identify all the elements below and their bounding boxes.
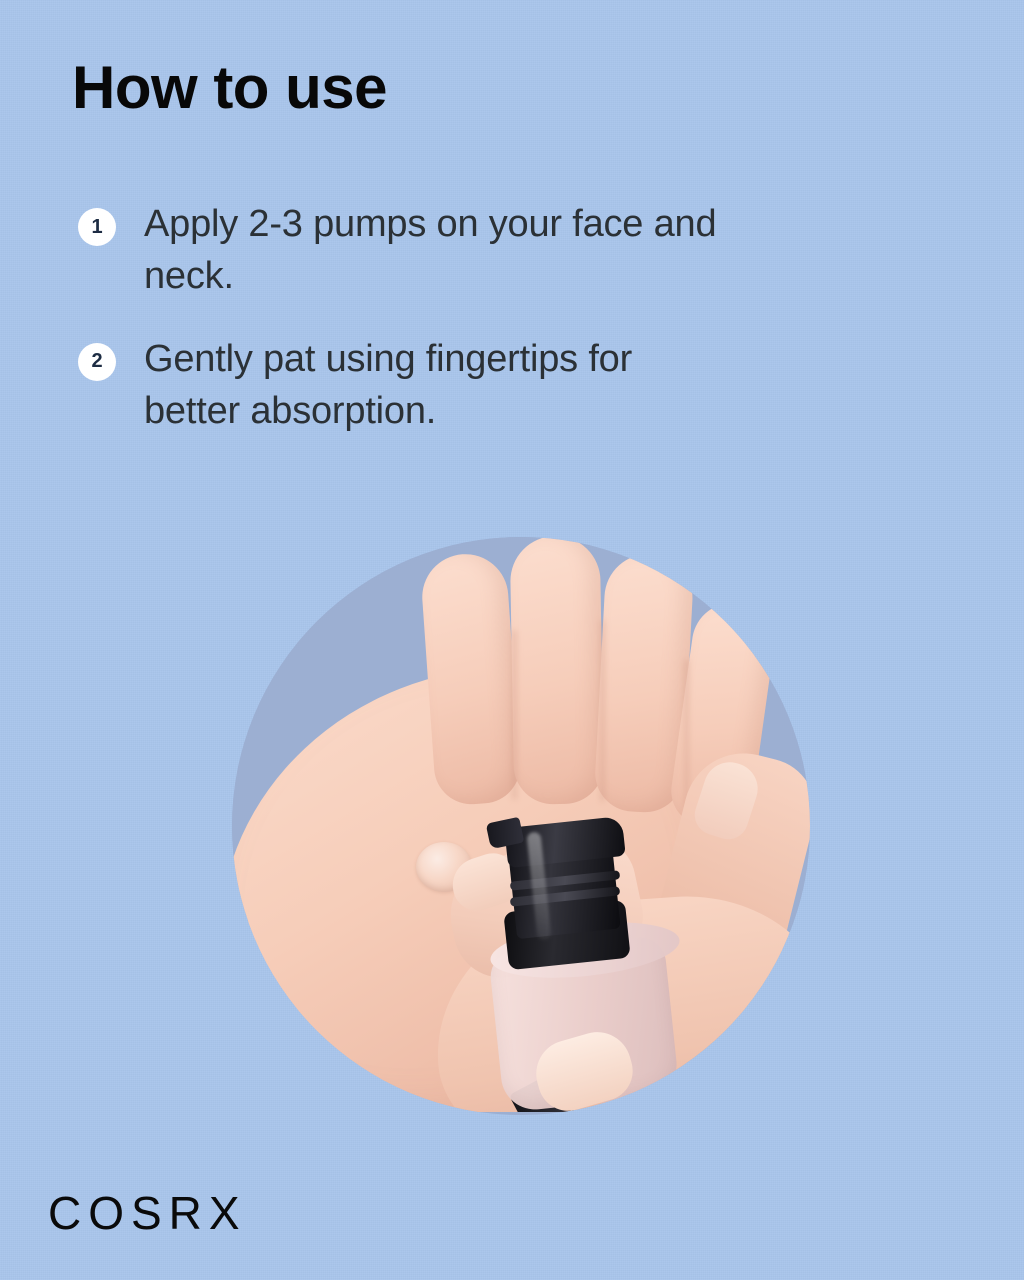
list-item: 1 Apply 2-3 pumps on your face and neck.: [78, 198, 778, 303]
finger-gap: [512, 630, 517, 800]
brand-logo: COSRX: [48, 1186, 247, 1240]
finger-shape: [419, 551, 522, 806]
step-text: Apply 2-3 pumps on your face and neck.: [144, 198, 724, 303]
how-to-use-page: How to use 1 Apply 2-3 pumps on your fac…: [0, 0, 1024, 1280]
how-to-use-photo: [200, 520, 840, 1130]
page-title: How to use: [72, 56, 387, 119]
step-number-badge: 2: [78, 343, 116, 381]
photo-circle-mask: [200, 520, 840, 1112]
photo-scene: [200, 520, 840, 1112]
step-text: Gently pat using fingertips for better a…: [144, 333, 724, 438]
finger-gap: [600, 620, 605, 802]
list-item: 2 Gently pat using fingertips for better…: [78, 333, 778, 438]
steps-list: 1 Apply 2-3 pumps on your face and neck.…: [78, 198, 778, 468]
finger-gap: [684, 660, 689, 810]
finger-shape: [510, 535, 605, 805]
step-number-badge: 1: [78, 208, 116, 246]
